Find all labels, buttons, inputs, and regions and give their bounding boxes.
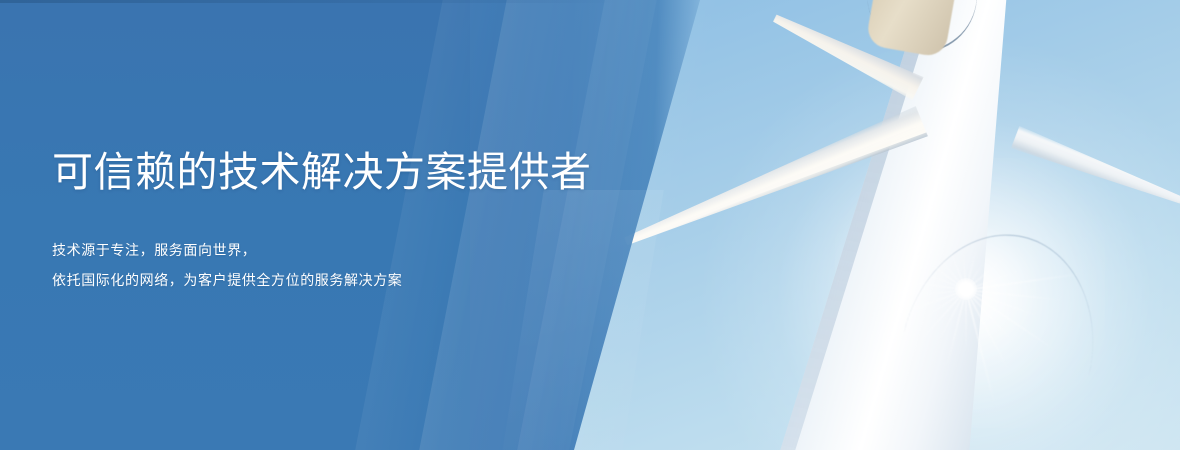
banner-subtitle-line-1: 技术源于专注，服务面向世界，	[52, 235, 752, 265]
banner-copy: 可信赖的技术解决方案提供者 技术源于专注，服务面向世界， 依托国际化的网络，为客…	[52, 148, 752, 295]
banner-headline: 可信赖的技术解决方案提供者	[52, 148, 752, 197]
top-edge-line	[0, 0, 620, 3]
hero-banner: 可信赖的技术解决方案提供者 技术源于专注，服务面向世界， 依托国际化的网络，为客…	[0, 0, 1180, 450]
banner-subtitle-line-2: 依托国际化的网络，为客户提供全方位的服务解决方案	[52, 265, 752, 295]
sun-core	[955, 278, 977, 300]
banner-subtitle: 技术源于专注，服务面向世界， 依托国际化的网络，为客户提供全方位的服务解决方案	[52, 197, 752, 295]
